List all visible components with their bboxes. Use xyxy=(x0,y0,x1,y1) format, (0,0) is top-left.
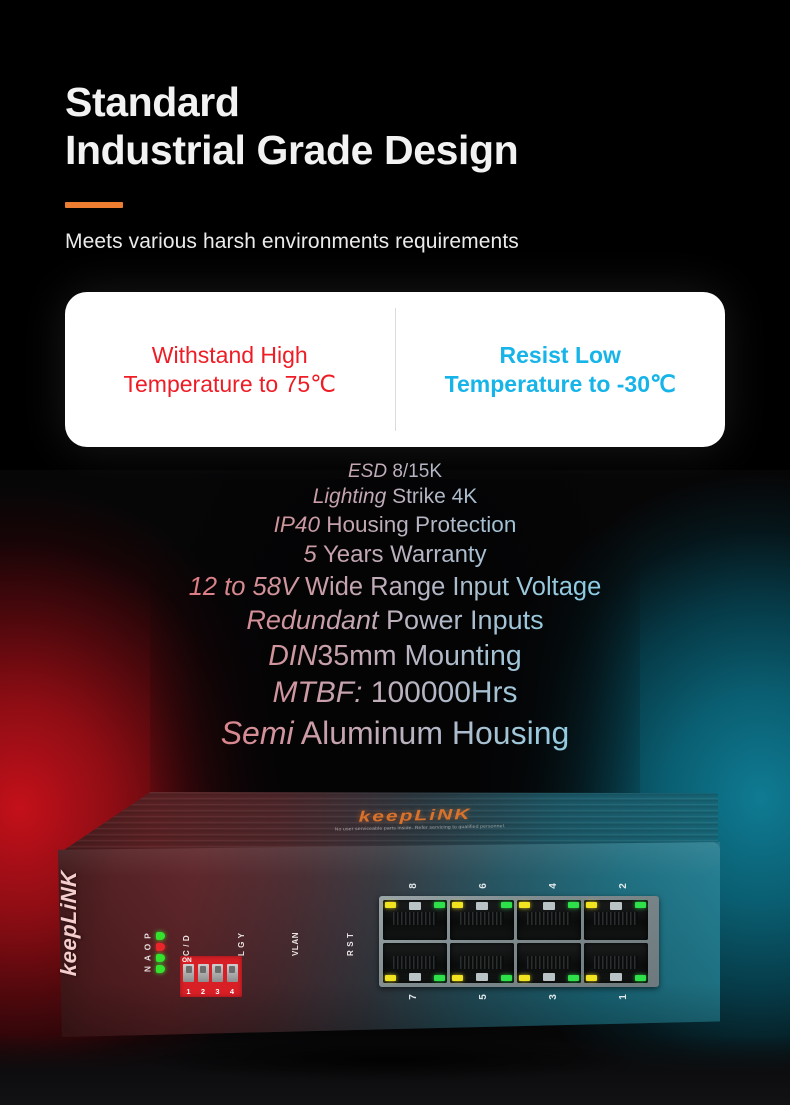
feature-text: 35mm Mounting xyxy=(317,640,521,672)
status-led-row: A xyxy=(142,952,176,963)
port-number-label: 1 xyxy=(616,962,632,1032)
headline-line-1: Standard xyxy=(65,78,745,126)
headline-line-2: Industrial Grade Design xyxy=(65,126,745,174)
feature-item: Redundant Power Inputs xyxy=(0,603,790,638)
port-number-label: 7 xyxy=(406,962,422,1032)
port-latch-tab xyxy=(543,902,555,910)
port-latch-tab xyxy=(409,902,421,910)
high-temperature-panel: Withstand High Temperature to 75℃ xyxy=(65,341,395,399)
port-link-led xyxy=(635,902,646,908)
header-block: Standard Industrial Grade Design Meets v… xyxy=(65,78,745,254)
status-led-indicator xyxy=(156,943,165,951)
port-contact-slot xyxy=(527,912,571,925)
high-temp-line-2: Temperature to 75℃ xyxy=(75,370,385,399)
dip-switch-number: 3 xyxy=(212,987,223,996)
dip-switch-lever[interactable] xyxy=(198,964,209,982)
port-activity-led xyxy=(586,975,597,981)
feature-item: IP40 Housing Protection xyxy=(0,511,790,540)
feature-item: Semi Aluminum Housing xyxy=(0,713,790,754)
feature-text: Housing Protection xyxy=(320,512,516,537)
feature-emphasis: Lighting xyxy=(313,485,387,508)
status-led-indicator xyxy=(156,965,165,973)
feature-emphasis: Semi xyxy=(221,715,294,751)
port-link-led xyxy=(501,902,512,908)
port-activity-led xyxy=(586,902,597,908)
dip-switch-body[interactable]: ON 1234 xyxy=(180,956,242,997)
status-led-row: O xyxy=(142,941,176,952)
port-link-led xyxy=(635,975,646,981)
feature-text: 100000Hrs xyxy=(362,676,517,709)
port-contact-slot xyxy=(393,912,437,925)
port-activity-led xyxy=(385,902,396,908)
low-temp-line-1: Resist Low xyxy=(406,341,716,370)
port-labels-top: 8642 xyxy=(379,878,659,894)
dip-switch-lever[interactable] xyxy=(212,964,223,982)
status-led-label: O xyxy=(143,941,153,952)
port-link-led xyxy=(501,975,512,981)
subtitle: Meets various harsh environments require… xyxy=(65,230,745,254)
feature-emphasis: DIN xyxy=(268,640,317,672)
high-temp-line-1: Withstand High xyxy=(75,341,385,370)
feature-emphasis: MTBF: xyxy=(272,676,362,709)
port-activity-led xyxy=(385,975,396,981)
feature-text: Years Warranty xyxy=(317,541,487,568)
dip-switch-number: 1 xyxy=(183,987,194,996)
port-link-led xyxy=(434,975,445,981)
feature-item: 5 Years Warranty xyxy=(0,540,790,571)
product-image: keepLiNK No user serviceable parts insid… xyxy=(0,780,790,1105)
status-led-row: P xyxy=(142,930,176,941)
dip-switch-label: L G Y xyxy=(237,908,246,956)
port-number-label: 3 xyxy=(546,962,562,1032)
status-led-label: A xyxy=(143,952,153,963)
feature-text: Power Inputs xyxy=(379,605,544,635)
status-led-label: P xyxy=(143,930,153,941)
dip-switch-labels: C / DL G YVLANR S T xyxy=(182,908,394,956)
port-row-bottom xyxy=(383,943,655,983)
port-link-led xyxy=(568,975,579,981)
dip-switch-label: C / D xyxy=(182,908,191,956)
port-contact-slot xyxy=(594,912,638,925)
feature-emphasis: ESD xyxy=(348,461,387,482)
port-activity-led xyxy=(452,975,463,981)
dip-switch-lever[interactable] xyxy=(227,964,238,982)
feature-text: 8/15K xyxy=(387,461,442,482)
feature-item: DIN35mm Mounting xyxy=(0,638,790,674)
feature-item: ESD 8/15K xyxy=(0,460,790,484)
status-led-block: POAN xyxy=(142,930,176,974)
rj45-port[interactable] xyxy=(450,900,514,940)
accent-bar xyxy=(65,202,123,208)
status-led-row: N xyxy=(142,963,176,974)
port-activity-led xyxy=(452,902,463,908)
dip-switch-block: C / DL G YVLANR S T ON 1234 xyxy=(180,908,394,997)
device-shadow xyxy=(40,1030,740,1090)
feature-text: Wide Range Input Voltage xyxy=(298,573,601,601)
feature-emphasis: 5 xyxy=(303,541,316,568)
port-contact-slot xyxy=(460,912,504,925)
dip-switch-lever[interactable] xyxy=(183,964,194,982)
dip-switch-levers[interactable] xyxy=(183,964,238,982)
dip-switch-numbers: 1234 xyxy=(183,987,238,996)
rj45-port-block: 8642 7531 xyxy=(379,878,659,1005)
dip-switch-label: VLAN xyxy=(291,908,300,956)
rj45-port[interactable] xyxy=(517,900,581,940)
feature-emphasis: 12 to 58V xyxy=(189,573,298,601)
promo-banner: Standard Industrial Grade Design Meets v… xyxy=(0,0,790,1105)
port-activity-led xyxy=(519,902,530,908)
port-activity-led xyxy=(519,975,530,981)
feature-text: Strike 4K xyxy=(386,485,477,508)
port-number-label: 5 xyxy=(476,962,492,1032)
port-link-led xyxy=(568,902,579,908)
status-led-indicator xyxy=(156,954,165,962)
status-led-label: N xyxy=(143,963,153,974)
dip-switch-label: R S T xyxy=(346,908,355,956)
port-latch-tab xyxy=(476,902,488,910)
port-latch-tab xyxy=(610,902,622,910)
low-temp-line-2: Temperature to -30℃ xyxy=(406,370,716,399)
low-temperature-panel: Resist Low Temperature to -30℃ xyxy=(396,341,726,399)
feature-item: Lighting Strike 4K xyxy=(0,484,790,511)
feature-item: MTBF: 100000Hrs xyxy=(0,674,790,712)
feature-text: Aluminum Housing xyxy=(294,715,570,751)
port-labels-bottom: 7531 xyxy=(379,989,659,1005)
dip-switch-number: 2 xyxy=(198,987,209,996)
feature-item: 12 to 58V Wide Range Input Voltage xyxy=(0,571,790,604)
brand-logo-side: keepLiNK xyxy=(56,825,82,976)
status-led-indicator xyxy=(156,932,165,940)
port-row-top xyxy=(383,900,655,940)
feature-list: ESD 8/15KLighting Strike 4KIP40 Housing … xyxy=(0,460,790,754)
rj45-port[interactable] xyxy=(383,900,447,940)
rj45-port[interactable] xyxy=(584,900,648,940)
feature-emphasis: Redundant xyxy=(246,605,378,635)
dip-switch-number: 4 xyxy=(227,987,238,996)
feature-emphasis: IP40 xyxy=(274,512,320,537)
dip-on-label: ON xyxy=(182,957,192,964)
port-link-led xyxy=(434,902,445,908)
temperature-card: Withstand High Temperature to 75℃ Resist… xyxy=(65,292,725,447)
